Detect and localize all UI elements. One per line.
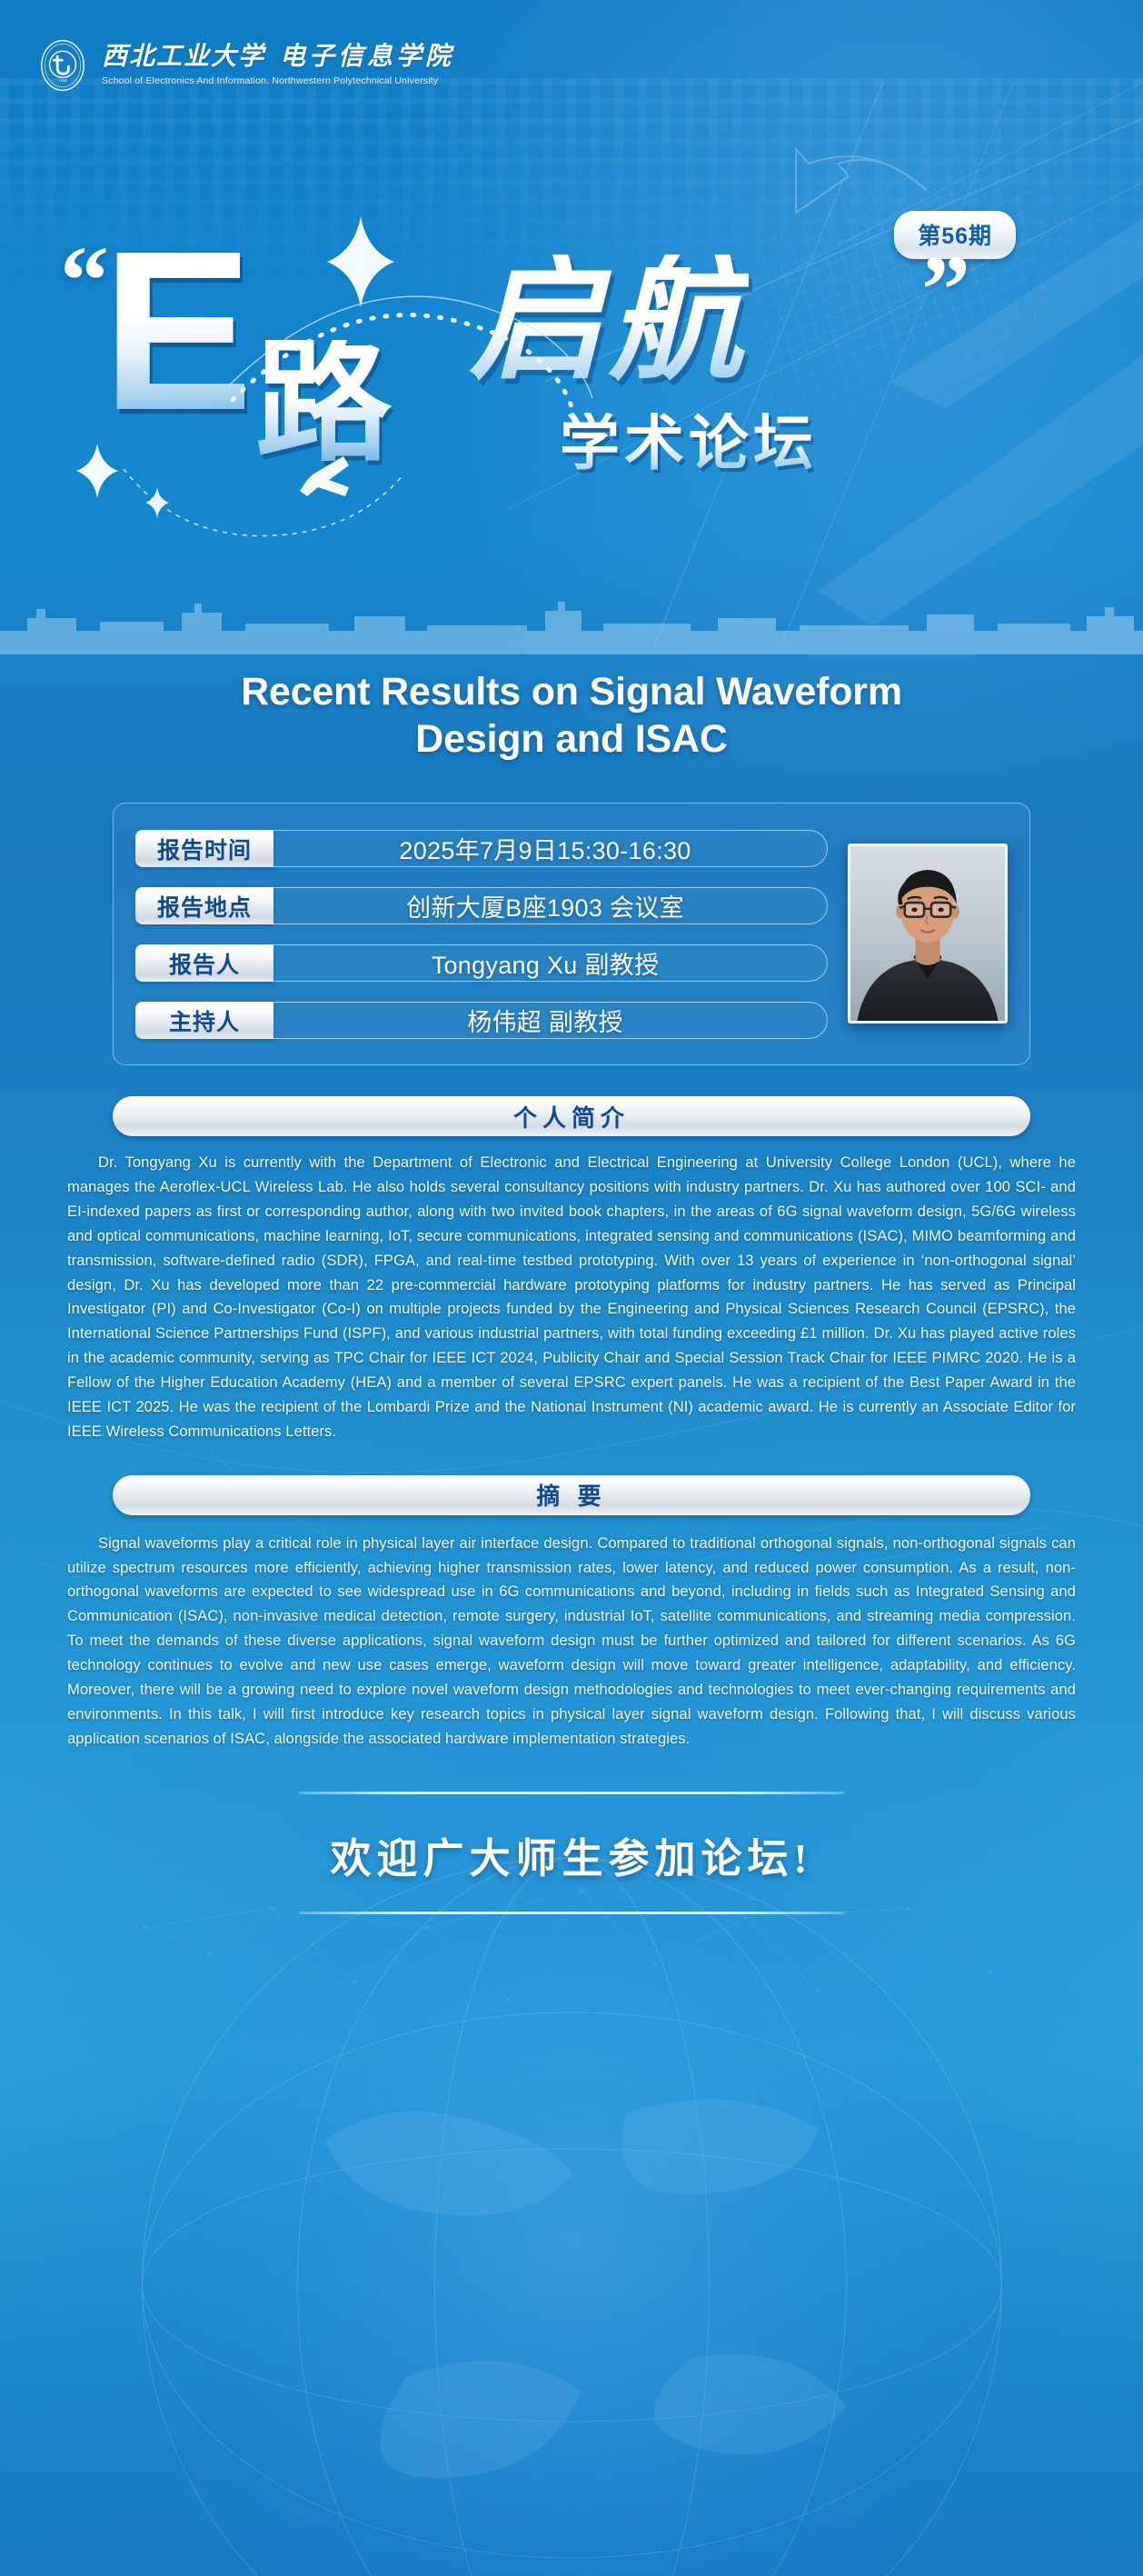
info-row-time: 报告时间 2025年7月9日15:30-16:30 bbox=[135, 830, 828, 867]
quote-close-mark: ” bbox=[921, 262, 970, 321]
svg-text:1938: 1938 bbox=[58, 78, 67, 83]
page-title: Recent Results on Signal Waveform Design… bbox=[190, 669, 953, 763]
event-info-card: 报告时间 2025年7月9日15:30-16:30 报告地点 创新大厦B座190… bbox=[113, 803, 1030, 1065]
poster-footer: 欢迎广大师生参加论坛! bbox=[113, 1792, 1030, 1914]
globe-decoration bbox=[0, 1812, 1143, 2576]
info-label-time: 报告时间 bbox=[135, 830, 273, 867]
info-value-location: 创新大厦B座1903 会议室 bbox=[273, 887, 828, 924]
welcome-message: 欢迎广大师生参加论坛! bbox=[113, 1825, 1030, 1884]
bio-paragraph: Dr. Tongyang Xu is currently with the De… bbox=[67, 1151, 1076, 1444]
university-seal-icon: 1938 bbox=[36, 39, 89, 92]
logo-english-name: School of Electronics And Information. N… bbox=[102, 75, 454, 86]
info-label-location: 报告地点 bbox=[135, 887, 273, 924]
divider-bottom bbox=[299, 1912, 844, 1914]
sparkle-icon bbox=[76, 444, 118, 498]
hero-banner: 第56期 “ ” E 路 启航 学术论坛 bbox=[0, 91, 1143, 654]
info-row-speaker: 报告人 Tongyang Xu 副教授 bbox=[135, 944, 828, 982]
poster-root: 1938 西北工业大学电子信息学院 School of Electronics … bbox=[0, 0, 1143, 2576]
divider-top bbox=[299, 1792, 844, 1794]
info-value-time: 2025年7月9日15:30-16:30 bbox=[273, 830, 828, 867]
speaker-photo bbox=[850, 846, 1005, 1021]
logo-chinese-name: 西北工业大学电子信息学院 bbox=[102, 45, 454, 70]
event-info-rows: 报告时间 2025年7月9日15:30-16:30 报告地点 创新大厦B座190… bbox=[135, 827, 828, 1039]
flight-path-icon bbox=[118, 436, 409, 545]
logo-college-name: 电子信息学院 bbox=[280, 43, 454, 71]
speaker-portrait bbox=[848, 844, 1008, 1023]
info-row-host: 主持人 杨伟超 副教授 bbox=[135, 1002, 828, 1039]
logo-university-name: 西北工业大学 bbox=[102, 43, 265, 71]
info-value-speaker: Tongyang Xu 副教授 bbox=[273, 944, 828, 982]
abstract-paragraph: Signal waveforms play a critical role in… bbox=[67, 1532, 1076, 1752]
university-logo: 1938 西北工业大学电子信息学院 School of Electronics … bbox=[36, 39, 454, 92]
poster-body: Recent Results on Signal Waveform Design… bbox=[0, 636, 1143, 1914]
poster-header: 1938 西北工业大学电子信息学院 School of Electronics … bbox=[0, 0, 1143, 91]
info-row-location: 报告地点 创新大厦B座1903 会议室 bbox=[135, 887, 828, 924]
info-value-host: 杨伟超 副教授 bbox=[273, 1002, 828, 1039]
info-label-speaker: 报告人 bbox=[135, 944, 273, 982]
info-label-host: 主持人 bbox=[135, 1002, 273, 1039]
section-header-abstract: 摘 要 bbox=[113, 1475, 1030, 1515]
section-header-bio: 个人简介 bbox=[113, 1096, 1030, 1136]
dotted-arc-decoration bbox=[227, 273, 609, 427]
